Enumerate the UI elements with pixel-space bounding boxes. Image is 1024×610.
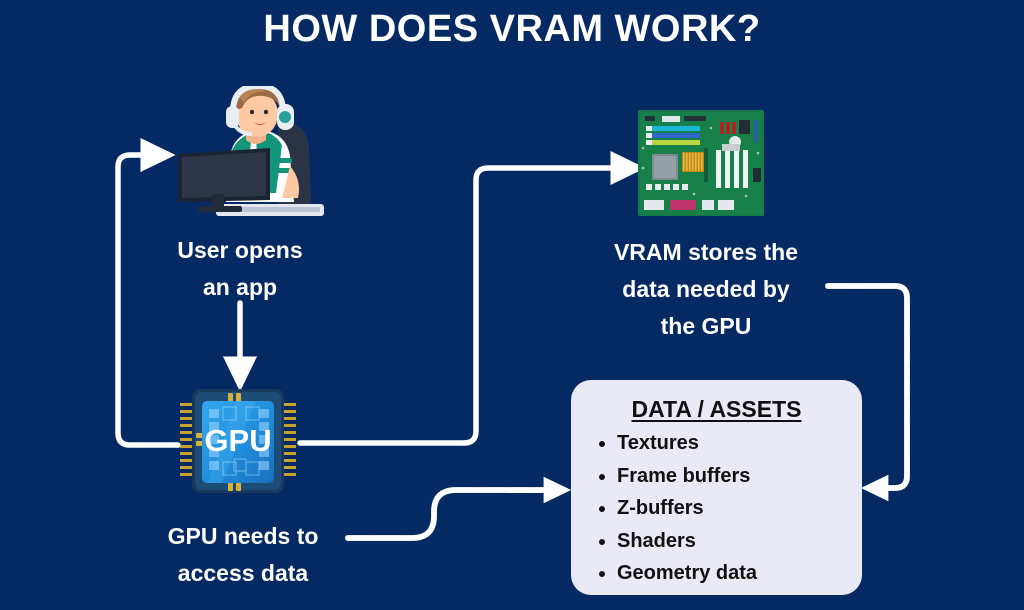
data-assets-card: DATA / ASSETS Textures Frame buffers Z-b… — [571, 380, 862, 595]
data-assets-list: Textures Frame buffers Z-buffers Shaders… — [571, 427, 862, 590]
user-label-line2: an app — [124, 269, 356, 306]
infographic-canvas: HOW DOES VRAM WORK? — [0, 0, 1024, 610]
motherboard-illustration — [636, 108, 766, 218]
gpu-node-label: GPU needs to access data — [110, 518, 376, 592]
list-item: Textures — [617, 427, 862, 460]
user-label-line1: User opens — [124, 232, 356, 269]
gpu-chip-illustration: GPU — [176, 381, 300, 507]
vram-node-label: VRAM stores the data needed by the GPU — [556, 234, 856, 345]
list-item: Z-buffers — [617, 492, 862, 525]
vram-label-line1: VRAM stores the — [556, 234, 856, 271]
gpu-chip-label: GPU — [204, 423, 271, 458]
wire-gpu-needs-to-data — [348, 490, 558, 538]
list-item: Geometry data — [617, 557, 862, 590]
gpu-label-line1: GPU needs to — [110, 518, 376, 555]
data-assets-heading: DATA / ASSETS — [571, 396, 862, 423]
gamer-at-computer-illustration — [178, 86, 338, 226]
vram-label-line2: data needed by — [556, 271, 856, 308]
vram-label-line3: the GPU — [556, 308, 856, 345]
gpu-label-line2: access data — [110, 555, 376, 592]
list-item: Shaders — [617, 525, 862, 558]
list-item: Frame buffers — [617, 460, 862, 493]
user-node-label: User opens an app — [124, 232, 356, 306]
